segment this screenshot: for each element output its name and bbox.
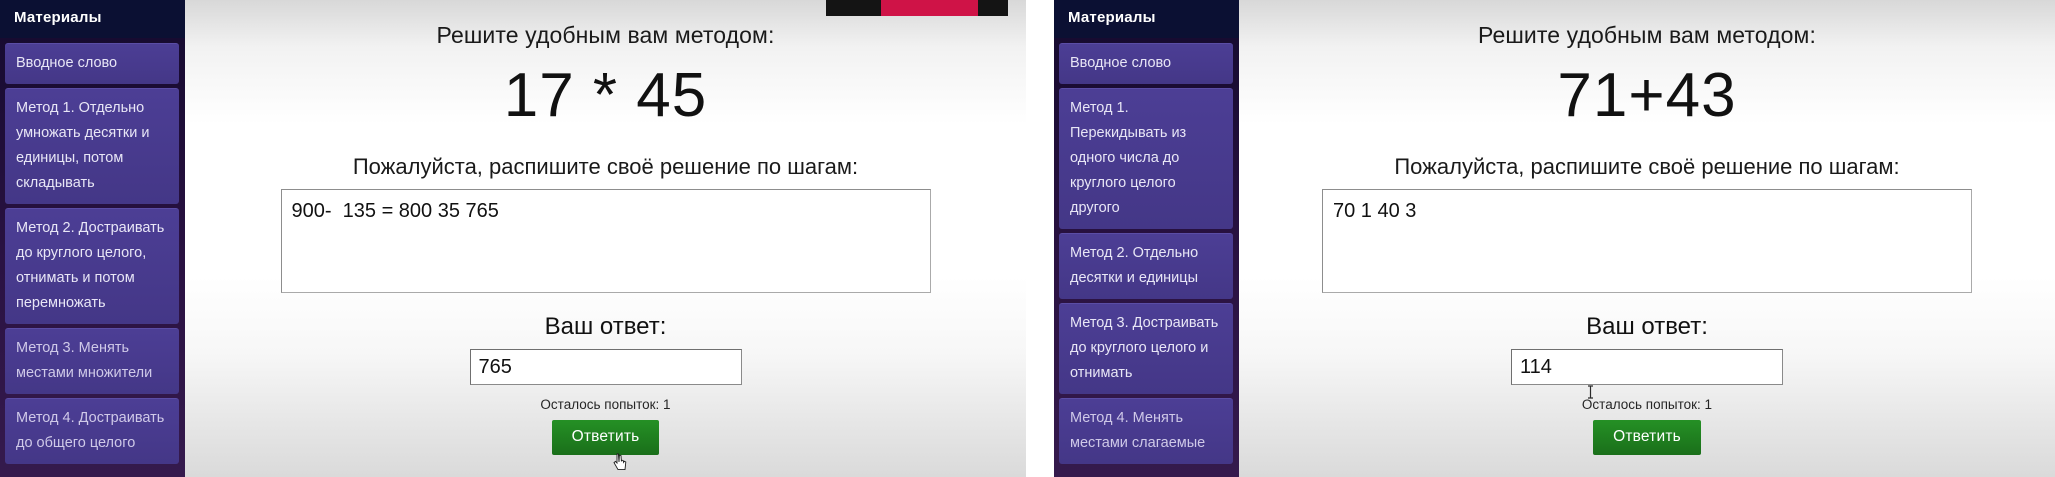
exercise-content-left: Решите удобным вам методом: 17 * 45 Пожа… [185, 0, 1026, 477]
sidebar-header-title: Материалы [0, 0, 185, 38]
submit-answer-button[interactable]: Ответить [552, 420, 660, 455]
attempts-remaining-text: Осталось попыток: 1 [1582, 397, 1712, 412]
solution-textarea[interactable] [281, 189, 931, 293]
sidebar-item-label: Метод 2. Достраивать до круглого целого,… [16, 220, 164, 311]
chrome-fragment-pink-icon [881, 0, 978, 16]
sidebar-item-intro[interactable]: Вводное слово [5, 43, 179, 84]
answer-input[interactable] [470, 349, 742, 385]
sidebar-item-list: Вводное слово Метод 1. Перекидывать из о… [1054, 38, 1239, 464]
sidebar-item-label: Метод 3. Достраивать до круглого целого … [1070, 315, 1218, 381]
screenshot-stage: Материалы Вводное слово Метод 1. Отдельн… [0, 0, 2055, 477]
sidebar-item-list: Вводное слово Метод 1. Отдельно умножать… [0, 38, 185, 464]
chrome-fragment-black-icon [826, 0, 881, 16]
math-expression: 71+43 [1557, 63, 1736, 128]
sidebar-item-method-2[interactable]: Метод 2. Достраивать до круглого целого,… [5, 208, 179, 324]
exercise-prompt: Решите удобным вам методом: [437, 22, 775, 49]
sidebar-item-method-3[interactable]: Метод 3. Менять местами множители [5, 328, 179, 394]
lesson-panel-left: Материалы Вводное слово Метод 1. Отдельн… [0, 0, 1026, 477]
sidebar-item-label: Метод 1. Отдельно умножать десятки и еди… [16, 100, 149, 191]
sidebar-item-method-4[interactable]: Метод 4. Достраивать до общего целого [5, 398, 179, 464]
materials-sidebar-right: Материалы Вводное слово Метод 1. Перекид… [1054, 0, 1239, 477]
sidebar-item-label: Метод 3. Менять местами множители [16, 340, 152, 381]
sidebar-item-label: Метод 4. Менять местами слагаемые [1070, 410, 1205, 451]
answer-input[interactable] [1511, 349, 1783, 385]
sidebar-item-method-3[interactable]: Метод 3. Достраивать до круглого целого … [1059, 303, 1233, 394]
panel-separator [1026, 0, 1054, 477]
sidebar-item-intro[interactable]: Вводное слово [1059, 43, 1233, 84]
exercise-content-right: Решите удобным вам методом: 71+43 Пожалу… [1239, 0, 2055, 477]
answer-field-wrap [1511, 349, 1783, 385]
solution-instruction: Пожалуйста, распишите своё решение по ша… [1394, 154, 1899, 180]
chrome-fragment-black2-icon [978, 0, 1008, 16]
attempts-remaining-text: Осталось попыток: 1 [540, 397, 670, 412]
answer-label: Ваш ответ: [1586, 313, 1708, 341]
answer-field-wrap [470, 349, 742, 385]
sidebar-item-label: Метод 2. Отдельно десятки и единицы [1070, 245, 1198, 286]
solution-textarea[interactable] [1322, 189, 1972, 293]
math-expression: 17 * 45 [504, 63, 708, 128]
solution-instruction: Пожалуйста, распишите своё решение по ша… [353, 154, 858, 180]
sidebar-header-title: Материалы [1054, 0, 1239, 38]
sidebar-item-label: Метод 4. Достраивать до общего целого [16, 410, 164, 451]
exercise-prompt: Решите удобным вам методом: [1478, 22, 1816, 49]
sidebar-item-method-1[interactable]: Метод 1. Перекидывать из одного числа до… [1059, 88, 1233, 229]
answer-label: Ваш ответ: [545, 313, 667, 341]
sidebar-item-method-4[interactable]: Метод 4. Менять местами слагаемые [1059, 398, 1233, 464]
materials-sidebar-left: Материалы Вводное слово Метод 1. Отдельн… [0, 0, 185, 477]
hand-pointer-cursor [613, 453, 628, 471]
sidebar-item-label: Вводное слово [1070, 55, 1171, 71]
sidebar-item-method-2[interactable]: Метод 2. Отдельно десятки и единицы [1059, 233, 1233, 299]
lesson-panel-right: Материалы Вводное слово Метод 1. Перекид… [1054, 0, 2055, 477]
sidebar-item-method-1[interactable]: Метод 1. Отдельно умножать десятки и еди… [5, 88, 179, 204]
sidebar-item-label: Вводное слово [16, 55, 117, 71]
sidebar-item-label: Метод 1. Перекидывать из одного числа до… [1070, 100, 1186, 216]
submit-answer-button[interactable]: Ответить [1593, 420, 1701, 455]
